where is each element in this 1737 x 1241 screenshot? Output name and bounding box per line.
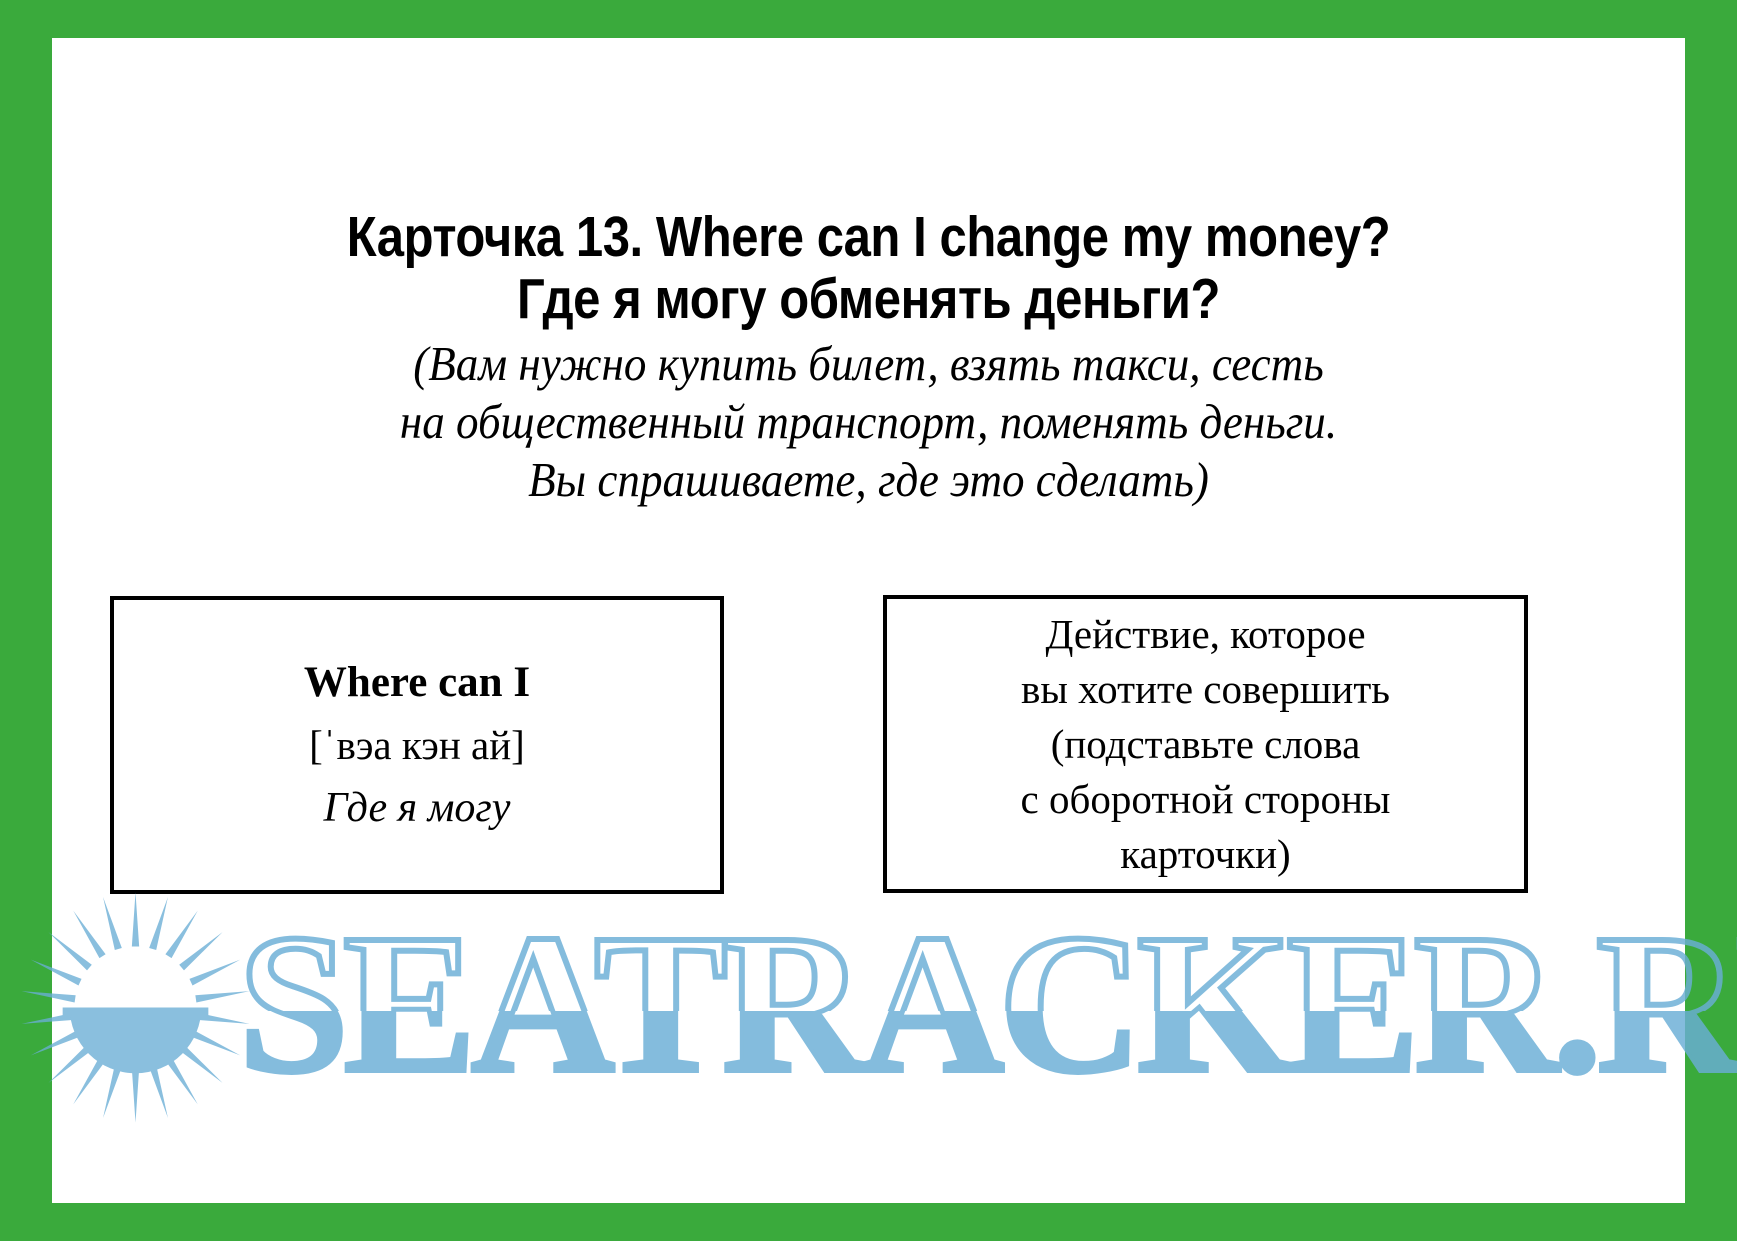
phrase-english: Where can I [304,651,530,714]
instruction-line-2: вы хотите совершить [1021,662,1390,717]
title-line-2: Где я могу обменять деньги? [166,268,1570,330]
description-line-1: (Вам нужно купить билет, взять такси, се… [117,335,1619,393]
instruction-line-5: карточки) [1120,827,1290,882]
instruction-line-1: Действие, которое [1045,607,1365,662]
flashcard: Карточка 13. Where can I change my money… [0,0,1737,1241]
description-line-3: Вы спрашиваете, где это сделать) [117,451,1619,509]
page-title: Карточка 13. Where can I change my money… [52,206,1685,330]
phrase-box: Where can I [ˈвэа кэн ай] Где я могу [110,596,724,894]
instruction-line-3: (подставьте слова [1051,717,1361,772]
card-inner-surface: Карточка 13. Where can I change my money… [52,38,1685,1203]
description-line-2: на общественный транспорт, поменять день… [117,393,1619,451]
description-block: (Вам нужно купить билет, взять такси, се… [52,335,1685,509]
title-line-1: Карточка 13. Where can I change my money… [166,206,1570,268]
phrase-transcription: [ˈвэа кэн ай] [309,714,525,777]
instruction-box: Действие, которое вы хотите совершить (п… [883,595,1528,893]
phrase-translation: Где я могу [324,777,511,840]
instruction-line-4: с оборотной стороны [1021,772,1391,827]
